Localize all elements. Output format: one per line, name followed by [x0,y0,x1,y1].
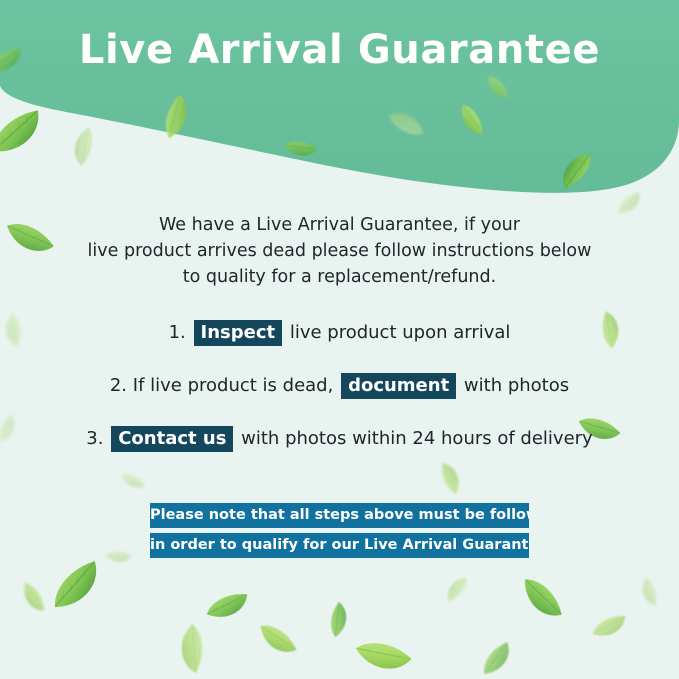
step-number-2: 2. [110,375,127,396]
step-highlight-document: document [341,373,456,399]
intro-paragraph: We have a Live Arrival Guarantee, if you… [60,212,619,290]
notice-bar-line-1: Please note that all steps above must be… [150,503,529,528]
step-after-3: with photos within 24 hours of delivery [241,428,593,449]
step-after-1: live product upon arrival [290,322,511,343]
step-highlight-contact-us: Contact us [111,426,233,452]
intro-line-3: to quality for a replacement/refund. [60,264,619,290]
poster-canvas: Live Arrival Guarantee We have a Live Ar… [0,0,679,679]
step-item-1: 1. Inspect live product upon arrival [40,320,639,346]
step-number-1: 1. [169,322,186,343]
step-item-2: 2. If live product is dead, document wit… [40,373,639,399]
notice-banner: Please note that all steps above must be… [150,503,529,558]
notice-bar-line-2: in order to qualify for our Live Arrival… [150,533,529,558]
step-after-2: with photos [464,375,569,396]
steps-list: 1. Inspect live product upon arrival 2. … [40,320,639,479]
poster-content: We have a Live Arrival Guarantee, if you… [0,0,679,679]
step-highlight-inspect: Inspect [194,320,283,346]
step-item-3: 3. Contact us with photos within 24 hour… [40,426,639,452]
intro-line-2: live product arrives dead please follow … [60,238,619,264]
intro-line-1: We have a Live Arrival Guarantee, if you… [60,212,619,238]
step-before-2: If live product is dead, [133,375,334,396]
step-number-3: 3. [86,428,103,449]
